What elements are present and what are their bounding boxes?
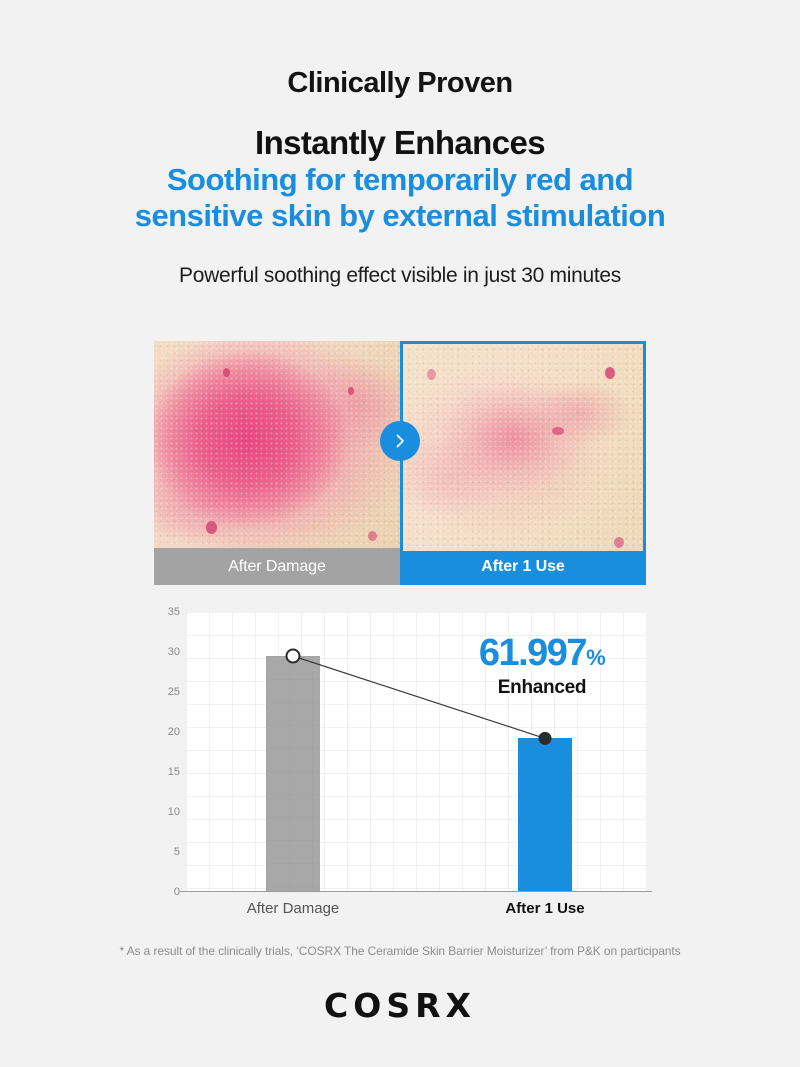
skin-texture-overlay	[154, 341, 400, 548]
x-axis-labels: After DamageAfter 1 Use	[154, 900, 646, 924]
x-axis-label-after-1-use: After 1 Use	[505, 900, 584, 917]
improvement-number: 61.997	[479, 632, 586, 674]
marker-hollow-after-damage	[287, 650, 300, 663]
skin-spot	[348, 387, 354, 395]
x-axis-line	[180, 891, 652, 892]
y-axis-tick-20: 20	[168, 726, 180, 738]
y-axis-tick-5: 5	[174, 846, 180, 858]
y-axis-tick-25: 25	[168, 686, 180, 698]
skin-spot	[614, 537, 624, 548]
eyebrow-heading: Clinically Proven	[0, 0, 800, 100]
skin-spot	[223, 368, 230, 377]
skin-spot	[427, 369, 436, 380]
x-axis-label-after-damage: After Damage	[247, 900, 340, 917]
y-axis-labels: 05101520253035	[154, 612, 180, 892]
title-block: Instantly Enhances Soothing for temporar…	[0, 124, 800, 234]
panel-after-damage: After Damage	[154, 341, 400, 585]
y-axis-tick-10: 10	[168, 806, 180, 818]
improvement-percent-sign: %	[586, 645, 605, 670]
y-axis-tick-0: 0	[174, 886, 180, 898]
photo-after-damage	[154, 341, 400, 548]
caption-after-damage: After Damage	[154, 548, 400, 585]
y-axis-tick-30: 30	[168, 646, 180, 658]
y-axis-tick-15: 15	[168, 766, 180, 778]
chart-plot-area: 61.997% Enhanced	[186, 612, 646, 892]
skin-spot	[206, 521, 217, 534]
footnote: * As a result of the clinically trials, …	[0, 944, 800, 958]
skin-spot	[552, 427, 564, 435]
photo-after-1-use	[403, 344, 643, 551]
before-after-comparison: After Damage After 1 Use	[154, 341, 646, 585]
title-main: Instantly Enhances	[0, 124, 800, 162]
improvement-callout: 61.997% Enhanced	[442, 634, 642, 699]
chevron-right-icon[interactable]	[380, 421, 420, 461]
improvement-caption: Enhanced	[442, 677, 642, 699]
title-accent-line-1: Soothing for temporarily red and	[0, 162, 800, 198]
y-axis-tick-35: 35	[168, 606, 180, 618]
subheading: Powerful soothing effect visible in just…	[0, 264, 800, 288]
brand-logo: COSRX	[0, 986, 800, 1025]
marker-filled-after-1-use	[539, 732, 552, 745]
improvement-value: 61.997%	[442, 634, 642, 672]
caption-after-1-use: After 1 Use	[403, 551, 643, 582]
results-bar-chart: 05101520253035 61.997% Enhanced	[154, 612, 646, 892]
skin-spot	[605, 367, 615, 379]
title-accent-line-2: sensitive skin by external stimulation	[0, 198, 800, 234]
panel-after-1-use: After 1 Use	[400, 341, 646, 585]
